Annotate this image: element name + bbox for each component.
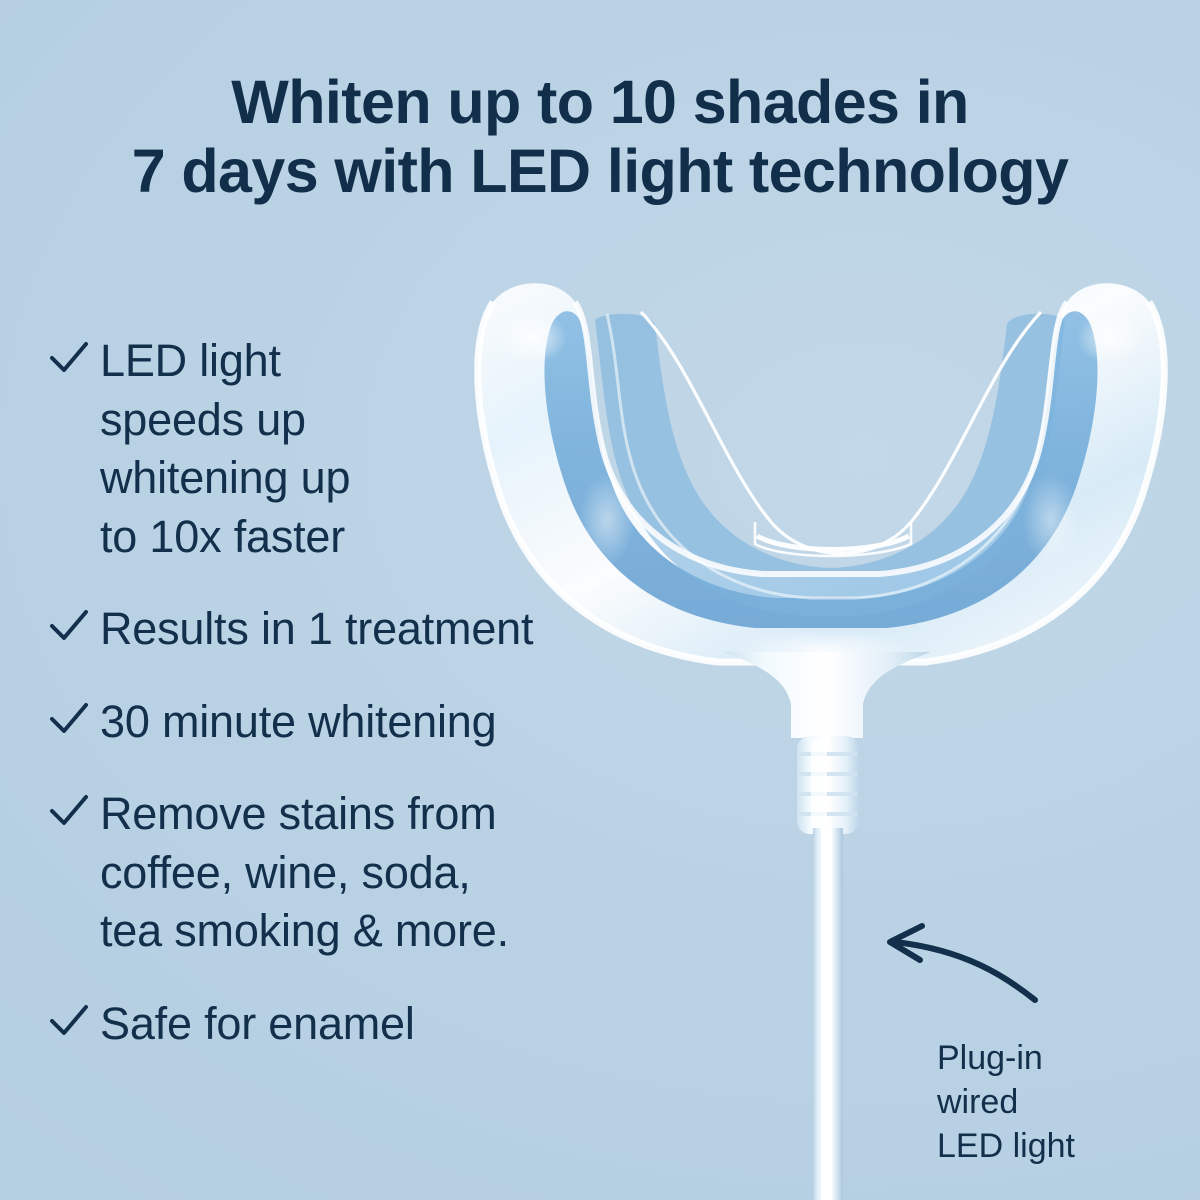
check-icon (48, 785, 90, 835)
list-item: Remove stains from coffee, wine, soda, t… (48, 785, 668, 961)
cord-strain-relief (797, 736, 859, 834)
callout-label: Plug-in wired LED light (937, 1036, 1125, 1169)
tray-glint-bottom (729, 630, 913, 670)
list-item-label: LED light speeds up whitening up to 10x … (100, 332, 350, 566)
list-item-label: Safe for enamel (100, 995, 415, 1054)
tray-glint-midright (1023, 474, 1079, 566)
page-title: Whiten up to 10 shades in 7 days with LE… (60, 68, 1140, 206)
power-cord-highlight (821, 828, 832, 1200)
infographic-canvas: Whiten up to 10 shades in 7 days with LE… (0, 0, 1200, 1200)
led-wire-arc (641, 312, 1041, 554)
check-icon (48, 332, 90, 382)
list-item: Results in 1 treatment (48, 600, 668, 659)
curved-arrow-icon (865, 920, 1050, 1010)
list-item: LED light speeds up whitening up to 10x … (48, 332, 668, 566)
headline-line-2: 7 days with LED light technology (60, 137, 1140, 206)
callout-annotation: Plug-in wired LED light (865, 920, 1125, 1169)
list-item-label: Remove stains from coffee, wine, soda, t… (100, 785, 509, 961)
list-item-label: 30 minute whitening (100, 693, 496, 752)
feature-list: LED light speeds up whitening up to 10x … (48, 332, 668, 1087)
led-strip (755, 522, 911, 556)
list-item: 30 minute whitening (48, 693, 668, 752)
list-item: Safe for enamel (48, 995, 668, 1054)
check-icon (48, 995, 90, 1045)
headline-line-1: Whiten up to 10 shades in (60, 68, 1140, 137)
check-icon (48, 693, 90, 743)
list-item-label: Results in 1 treatment (100, 600, 533, 659)
tray-glint-right (1077, 312, 1145, 364)
power-cord (813, 828, 843, 1200)
tray-inner-softline (607, 314, 1059, 598)
tray-connector (723, 652, 931, 738)
check-icon (48, 600, 90, 650)
